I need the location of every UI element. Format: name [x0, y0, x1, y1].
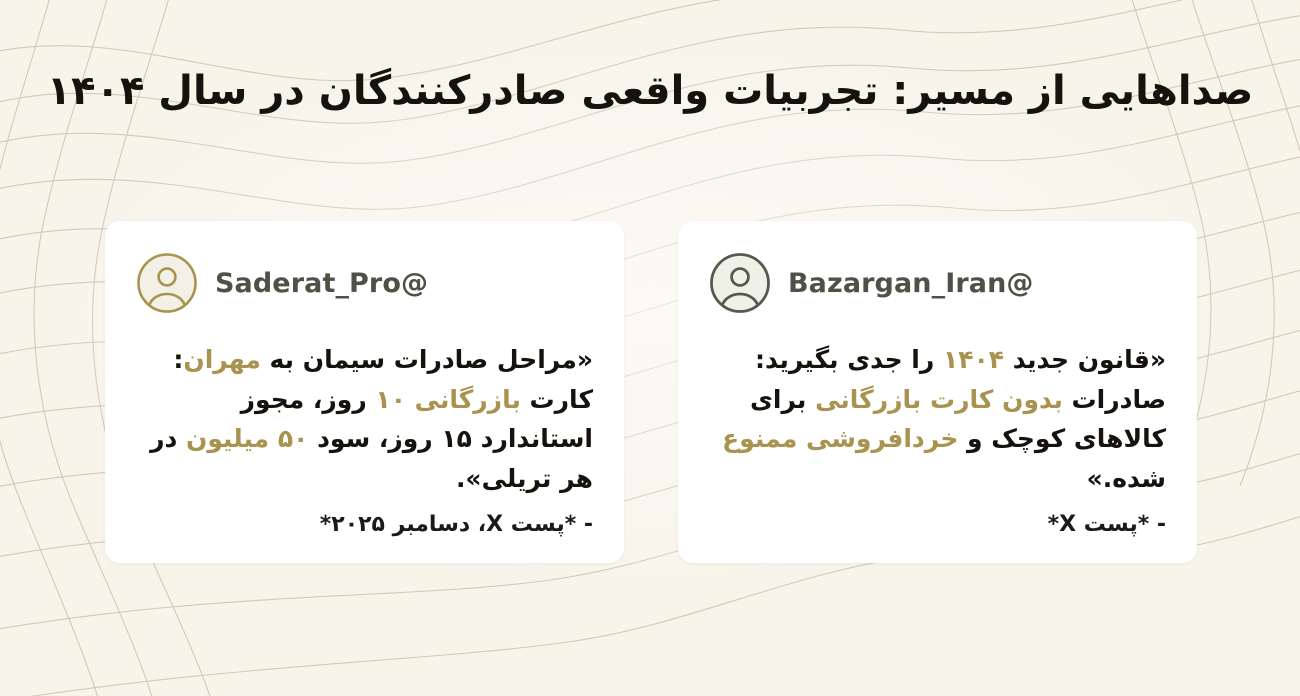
highlighted-phrase: خردافروشی ممنوع: [722, 424, 958, 453]
account-handle[interactable]: Bazargan_Iran@: [788, 268, 1034, 299]
user-avatar-icon: [136, 252, 198, 314]
account-handle[interactable]: Saderat_Pro@: [215, 268, 428, 299]
testimonial-card-bazargan-iran[interactable]: Bazargan_Iran@ «قانون جدید ۱۴۰۴ را جدی ب…: [678, 221, 1197, 563]
user-avatar-icon: [709, 252, 771, 314]
quote-text: «مراحل صادرات سیمان به مهران: کارت بازرگ…: [136, 340, 593, 498]
testimonial-cards-row: Saderat_Pro@ «مراحل صادرات سیمان به مهرا…: [105, 221, 1197, 563]
quote-segment: شده.»: [1087, 464, 1166, 493]
highlighted-phrase: بدون کارت بازرگانی: [815, 385, 1063, 414]
card-header: Bazargan_Iran@: [709, 252, 1166, 314]
card-header: Saderat_Pro@: [136, 252, 593, 314]
quote-segment: «قانون جدید: [1004, 345, 1166, 374]
quote-attribution: - *پست X*: [709, 512, 1166, 541]
testimonial-card-saderat-pro[interactable]: Saderat_Pro@ «مراحل صادرات سیمان به مهرا…: [105, 221, 624, 563]
quote-text: «قانون جدید ۱۴۰۴ را جدی بگیرید: صادرات ب…: [709, 340, 1166, 498]
page-title: صداهایی از مسیر: تجربیات واقعی صادرکنندگ…: [0, 66, 1300, 117]
highlighted-phrase: ۵۰ میلیون: [186, 424, 308, 453]
quote-attribution: - *پست X، دسامبر ۲۰۲۵*: [136, 512, 593, 541]
highlighted-phrase: مهران: [183, 345, 260, 374]
highlighted-phrase: ۱۴۰۴: [943, 345, 1004, 374]
highlighted-phrase: بازرگانی ۱۰: [375, 385, 520, 414]
quote-segment: «مراحل صادرات سیمان به: [261, 345, 593, 374]
slide-root: صداهایی از مسیر: تجربیات واقعی صادرکنندگ…: [0, 0, 1300, 696]
